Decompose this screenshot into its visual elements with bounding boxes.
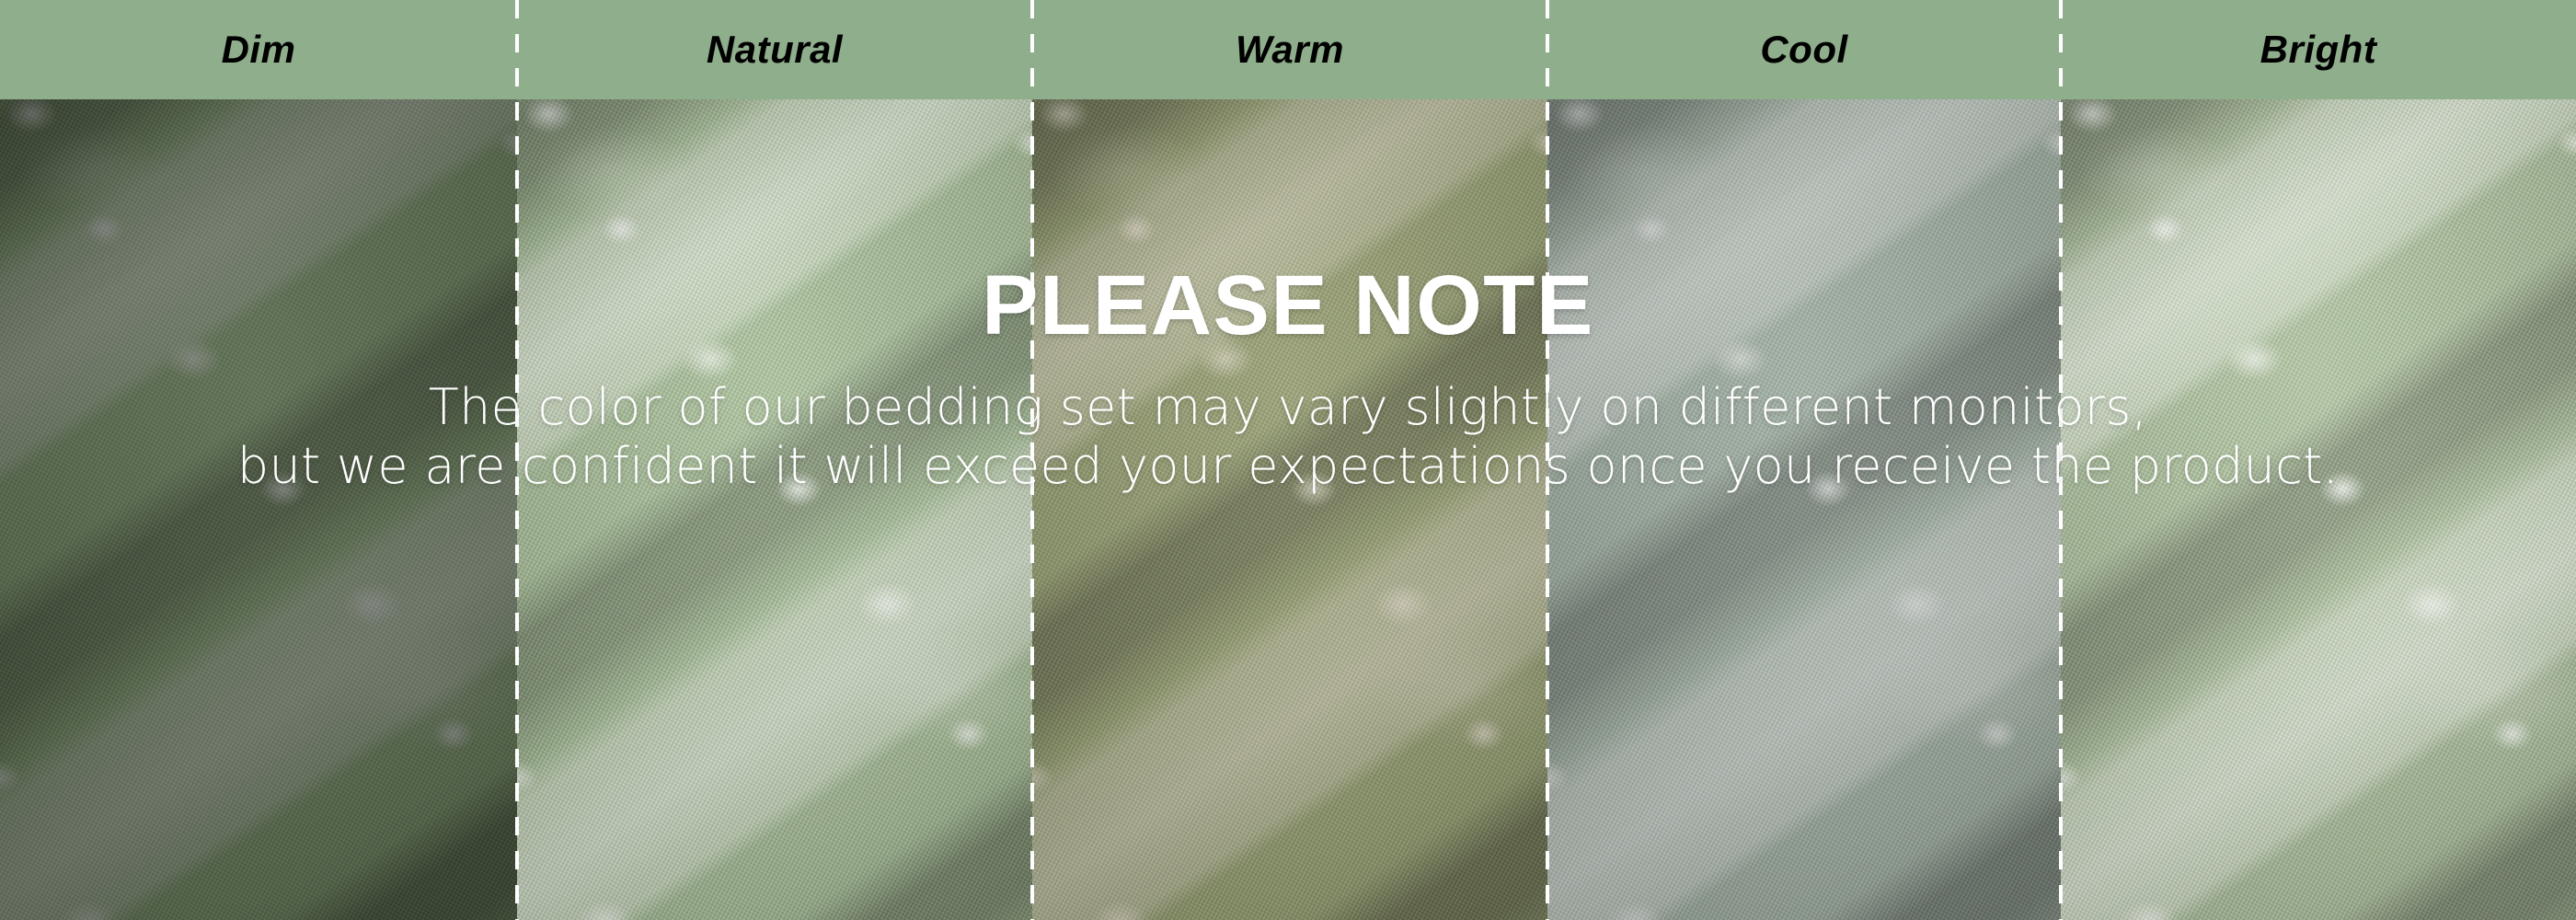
lighting-condition-header: Dim Natural Warm Cool Bright: [0, 0, 2576, 99]
fabric-texture-dim: [0, 0, 517, 920]
panel-dim: [0, 0, 517, 920]
fabric-shading: [1032, 0, 1547, 920]
fabric-shading: [0, 0, 517, 920]
header-cell-dim: Dim: [0, 0, 517, 99]
header-cell-cool: Cool: [1547, 0, 2061, 99]
fabric-texture-warm: [1032, 0, 1547, 920]
header-cell-natural: Natural: [517, 0, 1032, 99]
fabric-photo-strip: [0, 0, 2576, 920]
lighting-label-cool: Cool: [1760, 30, 1847, 69]
lighting-label-dim: Dim: [222, 30, 296, 69]
panel-divider-4: [2059, 0, 2063, 920]
fabric-texture-natural: [517, 0, 1032, 920]
panel-bright: [2061, 0, 2576, 920]
fabric-shading: [2061, 0, 2576, 920]
panel-divider-2: [1030, 0, 1034, 920]
lighting-label-natural: Natural: [707, 30, 843, 69]
panel-divider-1: [515, 0, 519, 920]
color-variation-banner: Dim Natural Warm Cool Bright PLEASE NOTE…: [0, 0, 2576, 920]
fabric-shading: [1547, 0, 2061, 920]
fabric-texture-cool: [1547, 0, 2061, 920]
panel-warm: [1032, 0, 1547, 920]
lighting-label-bright: Bright: [2260, 30, 2377, 69]
fabric-shading: [517, 0, 1032, 920]
fabric-texture-bright: [2061, 0, 2576, 920]
panel-divider-3: [1546, 0, 1549, 920]
panel-cool: [1547, 0, 2061, 920]
panel-natural: [517, 0, 1032, 920]
lighting-label-warm: Warm: [1236, 30, 1344, 69]
header-cell-bright: Bright: [2061, 0, 2576, 99]
header-cell-warm: Warm: [1032, 0, 1547, 99]
